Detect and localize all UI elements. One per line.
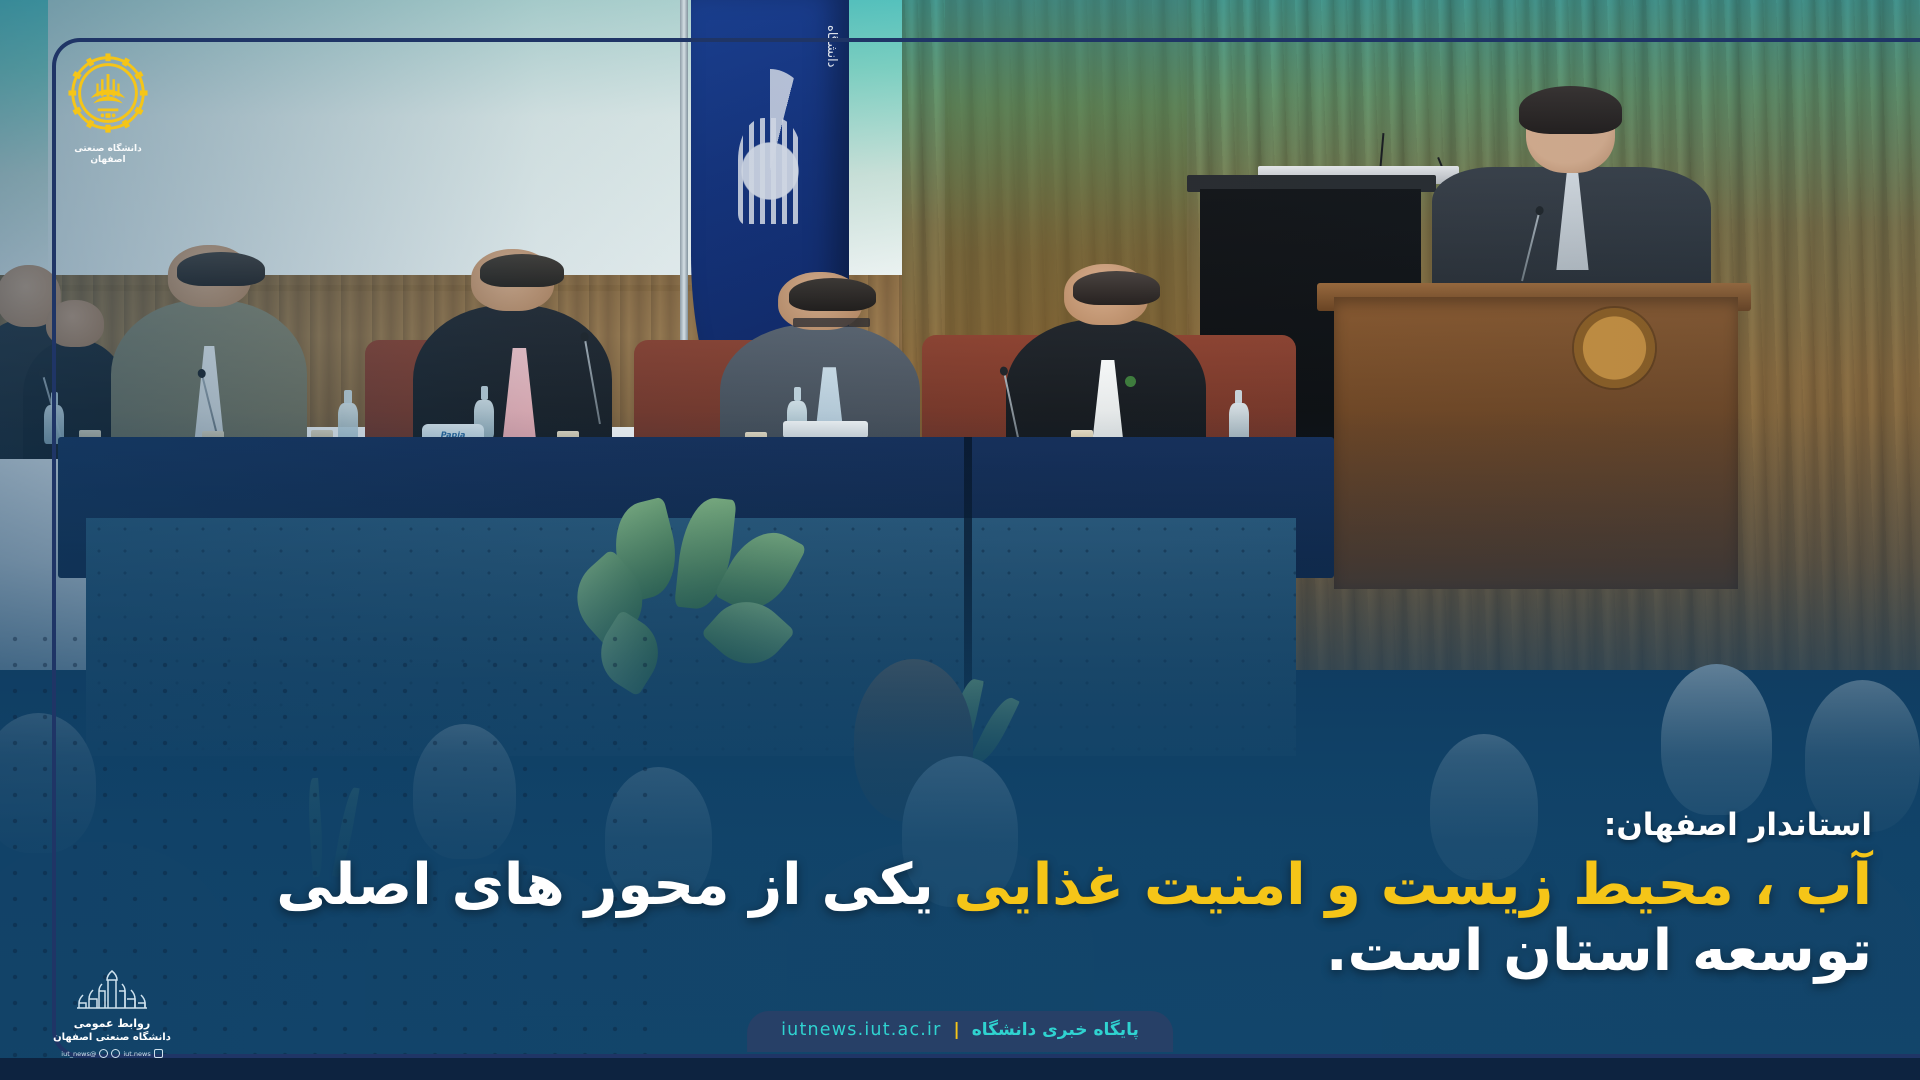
university-logo-caption: دانشگاه صنعتی اصفهان	[60, 144, 156, 167]
pr-logo-line1: روابط عمومی	[52, 1017, 172, 1030]
footer-label: پایگاه خبری دانشگاه	[972, 1020, 1139, 1040]
pr-logo-line2: دانشگاه صنعتی اصفهان	[52, 1032, 172, 1043]
headline-segment-white: یکی از محور های اصلی	[276, 852, 953, 918]
telegram-icon[interactable]	[111, 1049, 120, 1058]
footer-separator: |	[954, 1020, 960, 1040]
university-logo: دانشگاه صنعتی اصفهان	[60, 50, 156, 170]
headline-line-2: توسعه استان است.	[72, 918, 1872, 984]
social-links: iut.news @iut_news	[52, 1049, 172, 1058]
headline-block: استاندار اصفهان: آب ، محیط زیست و امنیت …	[72, 808, 1872, 984]
headline-kicker: استاندار اصفهان:	[72, 808, 1872, 842]
x-twitter-icon[interactable]	[99, 1049, 108, 1058]
footer-site-pill[interactable]: پایگاه خبری دانشگاه | iutnews.iut.ac.ir	[747, 1011, 1173, 1052]
footer-url[interactable]: iutnews.iut.ac.ir	[781, 1020, 941, 1040]
naqsh-e-jahan-skyline-icon	[69, 968, 155, 1012]
pr-logo-mark	[52, 968, 172, 1012]
frame-top-extension	[1660, 38, 1920, 42]
news-banner: دانشگاه	[0, 0, 1920, 1080]
instagram-icon[interactable]	[154, 1049, 163, 1058]
x-twitter-handle: @iut_news	[61, 1050, 96, 1058]
headline-segment-white-2: توسعه استان است.	[1326, 918, 1872, 984]
headline-segment-yellow: آب ، محیط زیست و امنیت غذایی	[954, 852, 1872, 918]
iut-seal-icon	[65, 50, 151, 136]
bottom-navy-strip	[0, 1058, 1920, 1080]
public-relations-logo: روابط عمومی دانشگاه صنعتی اصفهان iut.new…	[52, 968, 172, 1058]
headline-line-1: آب ، محیط زیست و امنیت غذایی یکی از محور…	[72, 852, 1872, 918]
instagram-handle: iut.news	[123, 1050, 150, 1058]
